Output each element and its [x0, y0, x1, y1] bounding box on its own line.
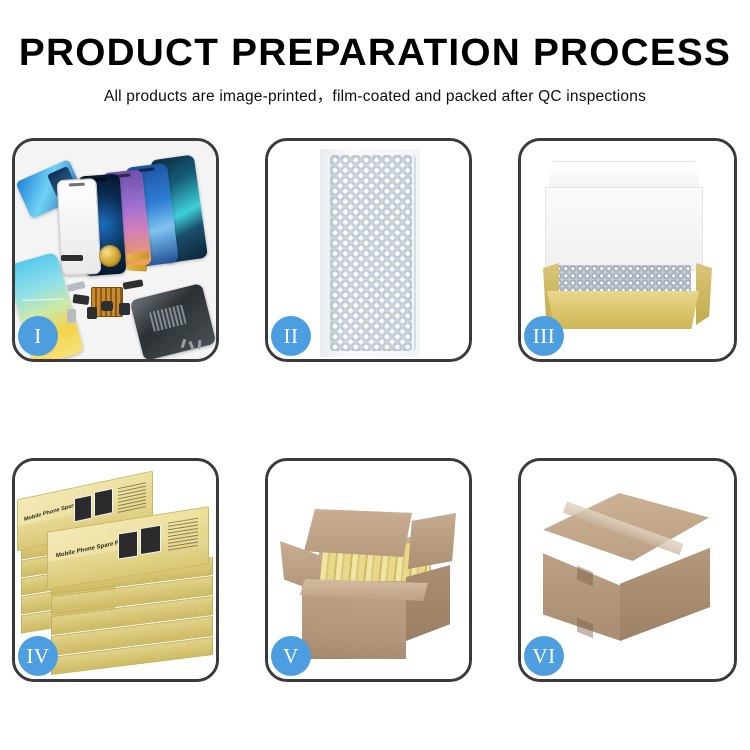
inner-box-lid — [547, 161, 701, 190]
process-step-panel-1[interactable]: I — [12, 138, 219, 362]
bubble-wrap-edges — [330, 155, 416, 351]
vibrator-part — [87, 307, 97, 319]
step-badge-4: IV — [18, 636, 58, 676]
process-step-panel-6[interactable]: VI — [518, 458, 737, 682]
inner-box-back-wall — [545, 187, 703, 271]
sim-tray-part — [67, 309, 76, 323]
box-window-left — [74, 495, 92, 523]
carton-flap-right — [408, 513, 456, 569]
page-header: PRODUCT PREPARATION PROCESS All products… — [0, 0, 750, 106]
bubble-wrapped-contents — [555, 265, 691, 293]
notch-icon — [69, 183, 85, 187]
box-window-right — [140, 525, 161, 555]
process-step-panel-2[interactable]: II — [265, 138, 472, 362]
step-badge-5: V — [271, 636, 311, 676]
page-title: PRODUCT PREPARATION PROCESS — [0, 34, 750, 74]
process-step-grid: I II III — [12, 138, 745, 682]
gold-coil-part — [99, 245, 121, 267]
earpiece-mesh-part — [61, 255, 83, 261]
box-window-right — [94, 488, 113, 517]
speaker-part — [101, 301, 113, 311]
step-badge-3: III — [524, 316, 564, 356]
box-spec-lines — [168, 518, 198, 551]
button-part — [119, 303, 130, 315]
box-spec-lines — [118, 481, 146, 513]
process-step-panel-4[interactable]: Mobile Phone Spare Parts Mobile Phone Sp… — [12, 458, 219, 682]
step-badge-2: II — [271, 316, 311, 356]
carton-flap-back — [304, 509, 412, 557]
phone-front-glass — [57, 178, 102, 276]
step-badge-6: VI — [524, 636, 564, 676]
step-badge-1: I — [18, 316, 58, 356]
box-window-left — [118, 530, 138, 559]
process-step-panel-5[interactable]: V — [265, 458, 472, 682]
inner-box-front-wall — [547, 291, 699, 329]
process-step-panel-3[interactable]: III — [518, 138, 737, 362]
screws-part — [182, 339, 206, 351]
page-subtitle: All products are image-printed，film-coat… — [0, 84, 750, 106]
